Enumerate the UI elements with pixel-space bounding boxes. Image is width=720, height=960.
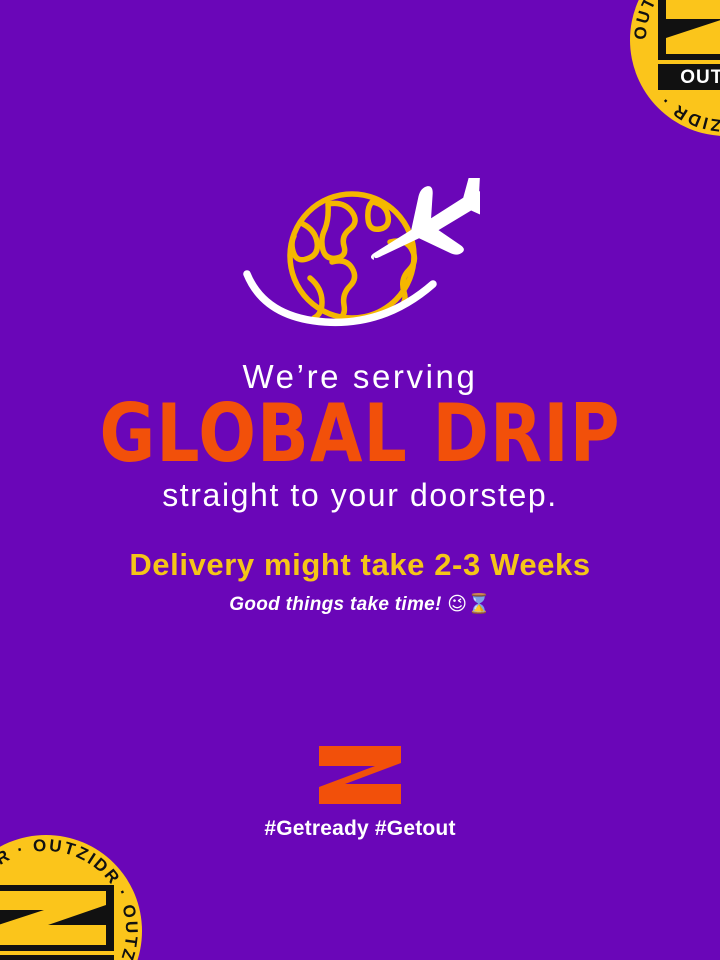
delivery-note-text: Good things take time! bbox=[229, 594, 441, 615]
delivery-headline: Delivery might take 2-3 Weeks bbox=[0, 548, 720, 582]
z-monogram-icon bbox=[319, 746, 401, 804]
page-title: GLOBAL DRIP bbox=[0, 393, 720, 474]
headline-block: We’re serving GLOBAL DRIP straight to yo… bbox=[0, 360, 720, 512]
stamp-logo: OUTZIDR bbox=[658, 0, 720, 90]
delivery-note: Good things take time! 😉⌛ bbox=[0, 592, 720, 616]
wink-hourglass-emoji: 😉⌛ bbox=[447, 593, 490, 615]
subline-text: straight to your doorstep. bbox=[0, 479, 720, 513]
delivery-notice: Delivery might take 2-3 Weeks Good thing… bbox=[0, 548, 720, 616]
poster-canvas: We’re serving GLOBAL DRIP straight to yo… bbox=[0, 0, 720, 960]
stamp-wordmark: OUTZIDR bbox=[680, 67, 720, 88]
stamp-logo: OUTZIDR bbox=[0, 885, 114, 960]
brand-stamp-bottom-left: OUTZIDR · OUTZIDR · OUTZIDR · OUTZIDR · … bbox=[0, 833, 144, 960]
brand-stamp-top-right: OUTZIDR · OUTZIDR · OUTZIDR · OUTZIDR · … bbox=[628, 0, 720, 138]
hero-illustration bbox=[0, 175, 720, 345]
globe-airplane-icon bbox=[240, 178, 480, 343]
footer-brand-block: #Getready #Getout bbox=[0, 746, 720, 841]
